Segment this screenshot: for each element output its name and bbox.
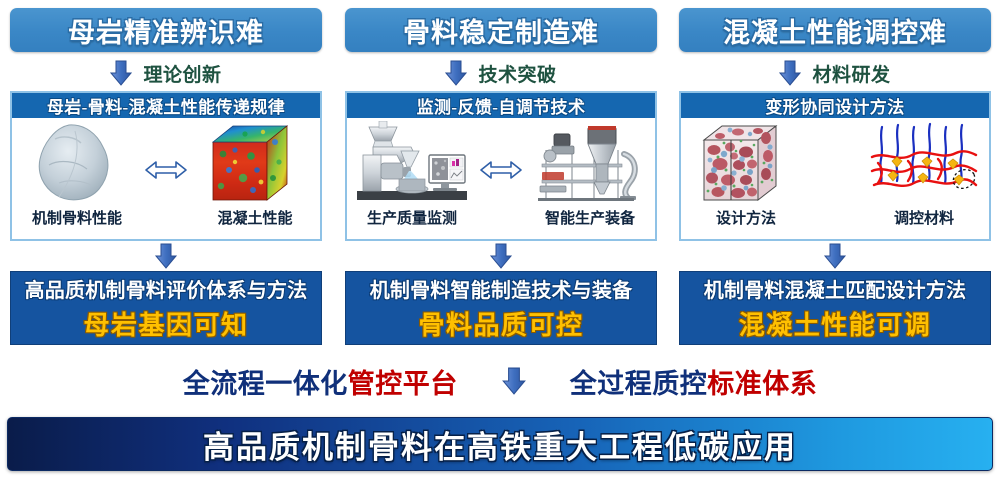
result-highlight-3: 混凝土性能可调 [739,305,932,342]
platform-right-suffix: 标准体系 [707,369,817,399]
method-card-title-3: 变形协同设计方法 [765,93,904,118]
method-card-body-3: 设计方法 [681,118,989,239]
bidirectional-arrow-icon-2 [476,120,526,239]
result-highlight-2: 骨料品质可控 [418,305,583,342]
card-cell-left-3: 设计方法 [686,120,806,239]
challenge-label-1: 母岩精准辨识难 [68,11,264,50]
method-card-2: 监测-反馈-自调节技术 [345,91,657,241]
innovation-row-1: 理论创新 [10,58,322,88]
challenge-header-3: 混凝土性能调控难 [679,8,991,52]
flow-arrow-2 [339,243,663,269]
intelligent-production-equipment-image [532,120,648,206]
platform-left-text: 全流程一体化管控平台 [183,362,458,401]
down-arrow-icon [823,243,847,269]
innovation-label-2: 技术突破 [478,60,556,87]
platform-strip: 全流程一体化管控平台 全过程质控标准体系 [0,357,1000,405]
card-caption-left-2: 生产质量监测 [367,207,457,228]
challenge-header-2: 骨料稳定制造难 [345,8,657,52]
method-card-title-1: 母岩-骨料-混凝土性能传递规律 [47,93,285,118]
down-arrow-icon [502,367,526,395]
challenge-header-1: 母岩精准辨识难 [10,8,322,52]
aggregate-packing-cube-image [694,120,798,206]
method-card-title-2: 监测-反馈-自调节技术 [417,93,586,118]
card-caption-left-3: 设计方法 [716,207,776,228]
card-caption-right-2: 智能生产装备 [545,207,635,228]
result-box-3: 机制骨料混凝土匹配设计方法 混凝土性能可调 [679,271,991,345]
result-title-1: 高品质机制骨料评价体系与方法 [25,274,308,303]
method-card-header-2: 监测-反馈-自调节技术 [347,93,655,118]
down-arrow-icon [154,243,178,269]
card-cell-right-2: 智能生产装备 [530,120,650,239]
result-box-1: 高品质机制骨料评价体系与方法 母岩基因可知 [10,271,322,345]
spacer-3 [810,120,860,239]
result-title-2: 机制骨料智能制造技术与装备 [370,274,633,303]
innovation-row-3: 材料研发 [679,58,991,88]
polymer-network-schematic-image [868,120,980,206]
card-cell-left-2: 生产质量监测 [352,120,472,239]
method-card-1: 母岩-骨料-混凝土性能传递规律 [10,91,322,241]
concrete-simulation-cube-image [205,120,305,206]
result-title-3: 机制骨料混凝土匹配设计方法 [704,274,967,303]
innovation-row-2: 技术突破 [345,58,657,88]
card-caption-left-1: 机制骨料性能 [32,207,122,228]
platform-right-text: 全过程质控标准体系 [570,362,818,401]
diagram-canvas: 母岩精准辨识难 理论创新 母岩-骨料-混凝土性能传递规律 [0,0,1000,479]
method-card-header-3: 变形协同设计方法 [681,93,989,118]
down-arrow-icon [489,243,513,269]
down-arrow-icon [110,60,132,86]
method-card-header-1: 母岩-骨料-混凝土性能传递规律 [12,93,320,118]
method-card-body-2: 生产质量监测 [347,118,655,239]
innovation-label-3: 材料研发 [812,60,890,87]
challenge-label-2: 骨料稳定制造难 [403,11,599,50]
production-quality-monitoring-image [353,120,471,206]
application-banner-label: 高品质机制骨料在高铁重大工程低碳应用 [203,422,797,467]
innovation-label-1: 理论创新 [143,60,221,87]
application-banner: 高品质机制骨料在高铁重大工程低碳应用 [7,417,993,471]
bidirectional-arrow-icon-1 [141,120,191,239]
method-card-3: 变形协同设计方法 [679,91,991,241]
column-aggregate-manufacturing: 骨料稳定制造难 技术突破 监测-反馈-自调节技术 [339,0,665,355]
platform-right-prefix: 全过程质控 [570,369,708,399]
method-card-body-1: 机制骨料性能 [12,118,320,239]
card-caption-right-1: 混凝土性能 [217,207,292,228]
column-rock-identification: 母岩精准辨识难 理论创新 母岩-骨料-混凝土性能传递规律 [4,0,330,355]
card-cell-left-1: 机制骨料性能 [17,120,137,239]
card-cell-right-3: 调控材料 [864,120,984,239]
card-cell-right-1: 混凝土性能 [195,120,315,239]
result-highlight-1: 母岩基因可知 [83,305,248,342]
platform-left-prefix: 全流程一体化 [183,369,348,399]
flow-arrow-1 [4,243,328,269]
platform-left-suffix: 管控平台 [348,369,458,399]
flow-arrow-3 [673,243,997,269]
column-concrete-performance: 混凝土性能调控难 材料研发 变形协同设计方法 [673,0,999,355]
result-box-2: 机制骨料智能制造技术与装备 骨料品质可控 [345,271,657,345]
challenge-label-3: 混凝土性能调控难 [723,11,947,50]
rock-specimen-image [25,120,129,206]
down-arrow-icon [445,60,467,86]
down-arrow-icon [779,60,801,86]
card-caption-right-3: 调控材料 [894,207,954,228]
